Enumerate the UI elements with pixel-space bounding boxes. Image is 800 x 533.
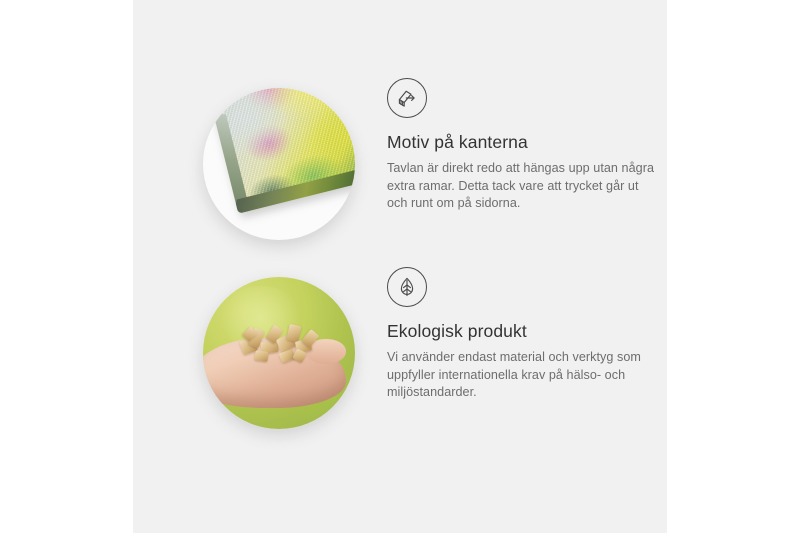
feature-description: Tavlan är direkt redo att hängas upp uta… xyxy=(387,160,659,213)
canvas-block xyxy=(207,88,355,214)
eco-photo-circle xyxy=(203,277,355,429)
content-panel: Motiv på kanterna Tavlan är direkt redo … xyxy=(133,0,667,533)
canvas-wrap-icon xyxy=(387,78,427,118)
wood-chips xyxy=(239,323,327,369)
leaf-icon xyxy=(387,267,427,307)
feature-text-canvas-edges: Motiv på kanterna Tavlan är direkt redo … xyxy=(387,78,659,213)
feature-block-canvas-edges: Motiv på kanterna Tavlan är direkt redo … xyxy=(133,78,667,253)
feature-block-eco-product: Ekologisk produkt Vi använder endast mat… xyxy=(133,267,667,442)
feature-description: Vi använder endast material och verktyg … xyxy=(387,349,659,402)
wood-chips-in-hands-photo xyxy=(203,277,355,429)
feature-title: Motiv på kanterna xyxy=(387,132,659,153)
feature-banner: Motiv på kanterna Tavlan är direkt redo … xyxy=(0,0,800,533)
feature-title: Ekologisk produkt xyxy=(387,321,659,342)
canvas-print-corner-photo xyxy=(203,88,355,240)
canvas-print-photo-circle xyxy=(203,88,355,240)
feature-text-eco-product: Ekologisk produkt Vi använder endast mat… xyxy=(387,267,659,402)
